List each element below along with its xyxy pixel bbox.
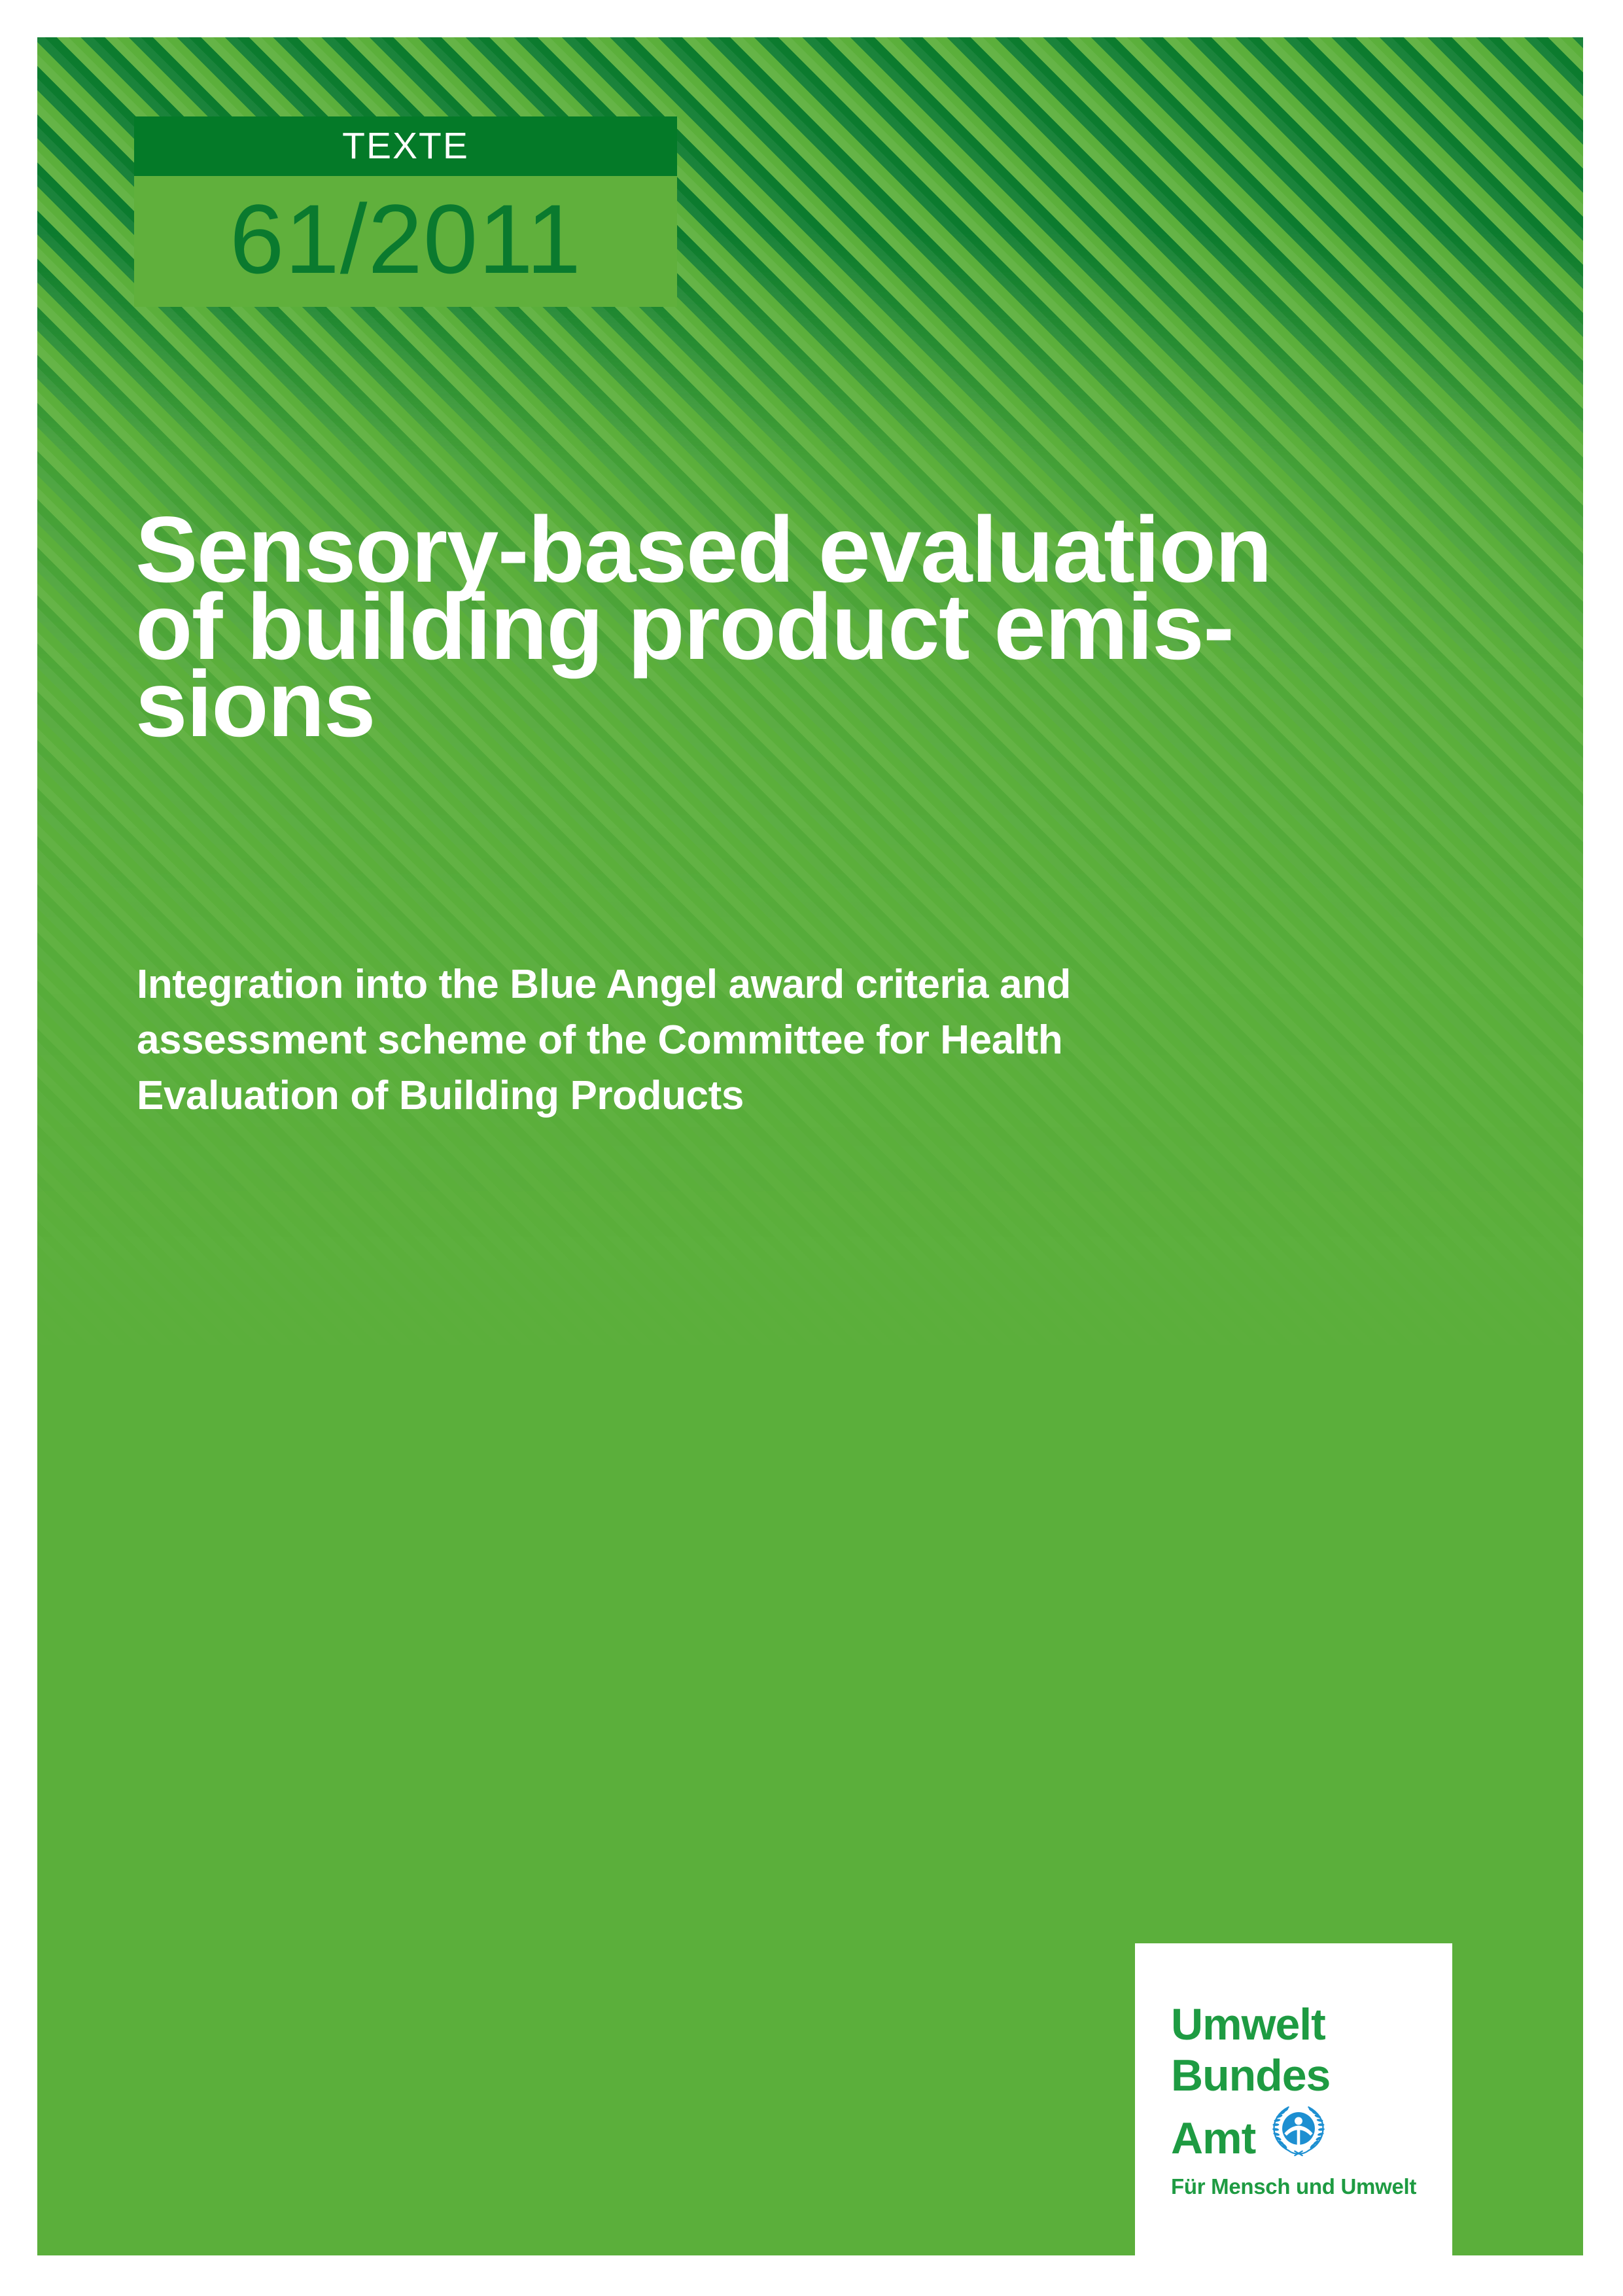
logo-line-umwelt: Umwelt bbox=[1171, 1999, 1433, 2050]
uba-emblem-icon bbox=[1267, 2097, 1330, 2160]
series-badge: TEXTE 61/2011 bbox=[134, 116, 677, 307]
logo-inner: Umwelt Bundes Amt bbox=[1171, 1999, 1433, 2199]
subtitle-line-1: Integration into the Blue Angel award cr… bbox=[137, 957, 1419, 1012]
cover-subtitle: Integration into the Blue Angel award cr… bbox=[137, 957, 1419, 1123]
document-cover: TEXTE 61/2011 Sensory-based evaluation o… bbox=[0, 0, 1623, 2296]
logo-line-amt: Amt bbox=[1171, 2113, 1255, 2164]
series-number: 61/2011 bbox=[230, 190, 582, 288]
diagonal-stripe-pattern-fine bbox=[37, 37, 1583, 2255]
logo-line-bundes: Bundes bbox=[1171, 2050, 1433, 2101]
series-number-panel: 61/2011 bbox=[134, 176, 677, 307]
cover-green-field: TEXTE 61/2011 Sensory-based evaluation o… bbox=[37, 37, 1583, 2255]
cover-title: Sensory-based evaluation of building pro… bbox=[135, 512, 1463, 743]
subtitle-line-2: assessment scheme of the Committee for H… bbox=[137, 1012, 1419, 1068]
publisher-logo: Umwelt Bundes Amt bbox=[1135, 1943, 1452, 2255]
logo-amt-row: Amt bbox=[1171, 2101, 1433, 2164]
subtitle-line-3: Evaluation of Building Products bbox=[137, 1068, 1419, 1123]
diagonal-stripe-pattern bbox=[37, 37, 1583, 2255]
series-label-bar: TEXTE bbox=[134, 116, 677, 176]
series-label: TEXTE bbox=[342, 128, 469, 165]
logo-tagline: Für Mensch und Umwelt bbox=[1171, 2174, 1433, 2199]
